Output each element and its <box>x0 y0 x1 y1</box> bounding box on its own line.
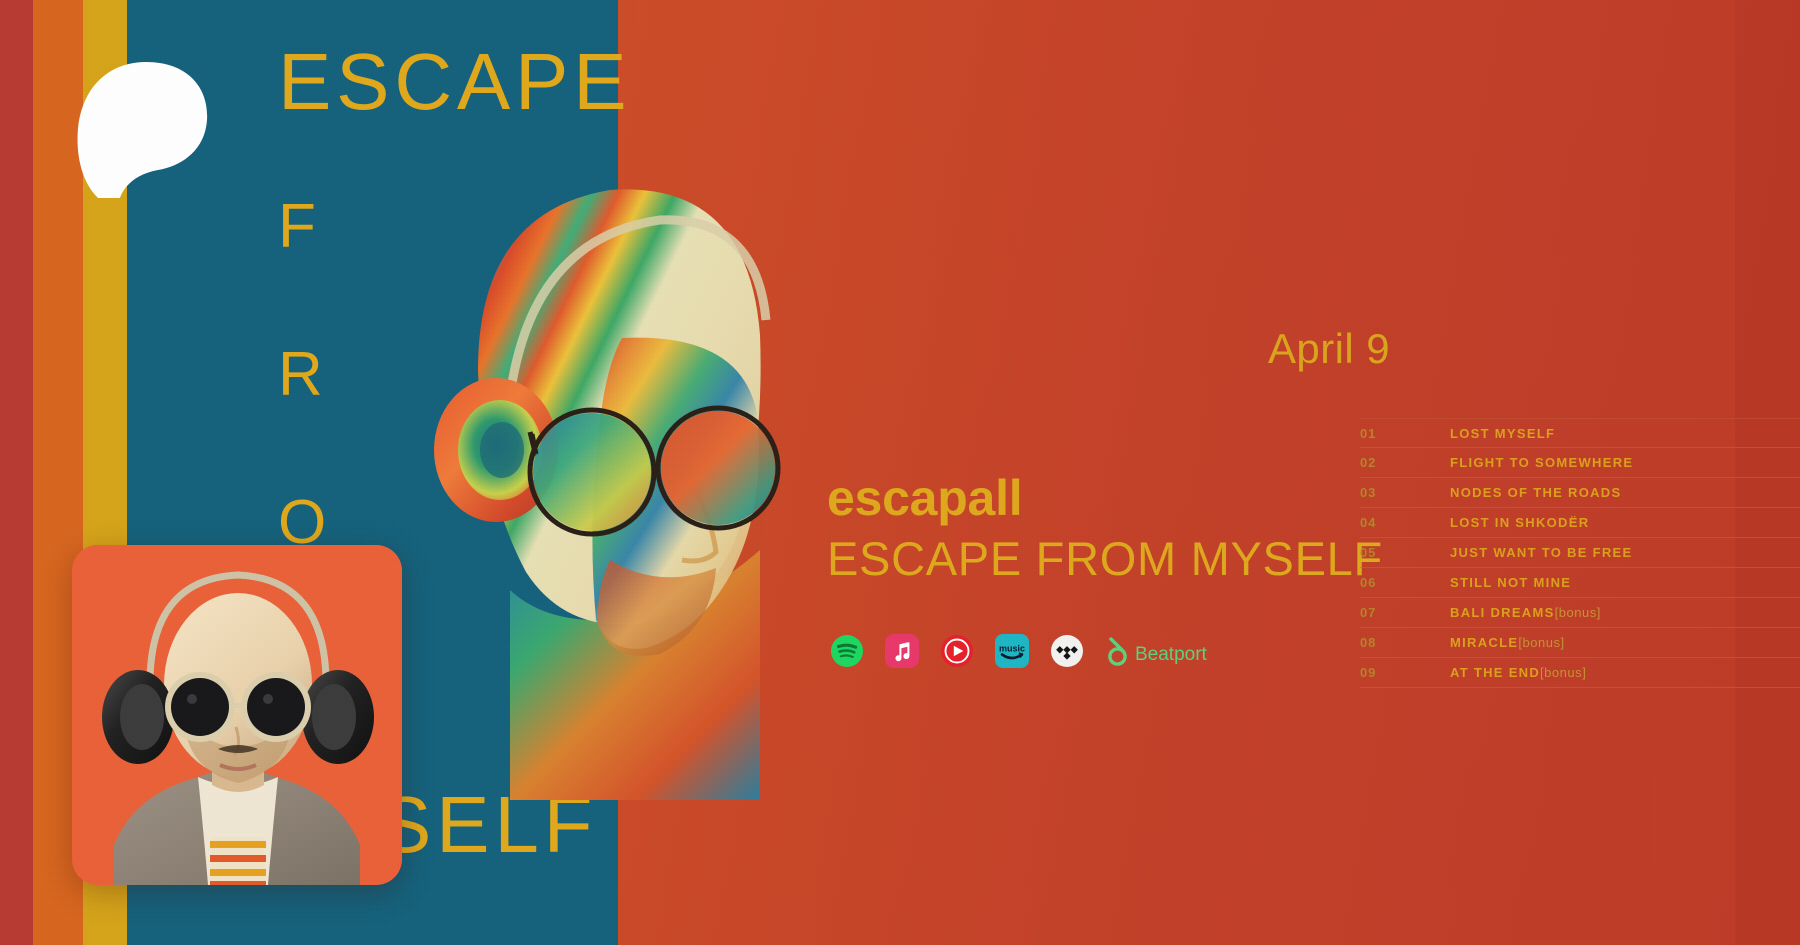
track-title: LOST MYSELF <box>1450 426 1555 441</box>
table-row[interactable]: 02 FLIGHT TO SOMEWHERE <box>1360 448 1800 478</box>
table-row[interactable]: 07 BALI DREAMS [bonus] <box>1360 598 1800 628</box>
track-title: FLIGHT TO SOMEWHERE <box>1450 455 1633 470</box>
artwork-word-f: F <box>278 196 320 258</box>
album-title: ESCAPE FROM MYSELF <box>827 531 1383 586</box>
apple-music-icon[interactable] <box>885 634 919 668</box>
track-number: 07 <box>1360 605 1450 620</box>
table-row[interactable]: 01 LOST MYSELF <box>1360 418 1800 448</box>
track-title: MIRACLE <box>1450 635 1518 650</box>
track-number: 03 <box>1360 485 1450 500</box>
track-title: NODES OF THE ROADS <box>1450 485 1621 500</box>
album-cover-card[interactable] <box>72 545 402 885</box>
track-title: STILL NOT MINE <box>1450 575 1571 590</box>
table-row[interactable]: 04 LOST IN SHKODËR <box>1360 508 1800 538</box>
track-title: JUST WANT TO BE FREE <box>1450 545 1633 560</box>
track-bonus-tag: [bonus] <box>1540 665 1586 680</box>
artwork-word-escape: ESCAPE <box>278 42 631 122</box>
track-title: LOST IN SHKODËR <box>1450 515 1589 530</box>
streaming-services-row: music Beatport <box>830 634 1217 668</box>
stripe-red <box>0 0 33 945</box>
track-number: 01 <box>1360 426 1450 441</box>
track-number: 06 <box>1360 575 1450 590</box>
table-row[interactable]: 09 AT THE END [bonus] <box>1360 658 1800 688</box>
album-cover-artwork <box>72 545 402 885</box>
svg-text:Beatport: Beatport <box>1135 644 1208 665</box>
youtube-music-icon[interactable] <box>940 634 974 668</box>
track-number: 04 <box>1360 515 1450 530</box>
beatport-logo[interactable]: Beatport <box>1105 635 1217 667</box>
table-row[interactable]: 08 MIRACLE [bonus] <box>1360 628 1800 658</box>
table-row[interactable]: 06 STILL NOT MINE <box>1360 568 1800 598</box>
track-bonus-tag: [bonus] <box>1518 635 1564 650</box>
release-title-block: escapall ESCAPE FROM MYSELF <box>827 472 1383 586</box>
release-announcement-poster: ESCAPE F R O SELF <box>0 0 1800 945</box>
amazon-music-icon[interactable]: music <box>995 634 1029 668</box>
table-row[interactable]: 03 NODES OF THE ROADS <box>1360 478 1800 508</box>
track-number: 08 <box>1360 635 1450 650</box>
track-number: 02 <box>1360 455 1450 470</box>
artist-name: escapall <box>827 472 1383 525</box>
track-title: BALI DREAMS <box>1450 605 1555 620</box>
svg-text:music: music <box>999 644 1025 654</box>
table-row[interactable]: 05 JUST WANT TO BE FREE <box>1360 538 1800 568</box>
track-number: 05 <box>1360 545 1450 560</box>
track-number: 09 <box>1360 665 1450 680</box>
psychedelic-head-illustration <box>360 120 840 800</box>
tracklist: 01 LOST MYSELF 02 FLIGHT TO SOMEWHERE 03… <box>1360 418 1800 688</box>
release-date: April 9 <box>1268 325 1390 373</box>
spotify-icon[interactable] <box>830 634 864 668</box>
tidal-icon[interactable] <box>1050 634 1084 668</box>
track-title: AT THE END <box>1450 665 1540 680</box>
patreon-logo-icon[interactable] <box>76 58 209 198</box>
artwork-word-r: R <box>278 344 327 406</box>
track-bonus-tag: [bonus] <box>1555 605 1601 620</box>
